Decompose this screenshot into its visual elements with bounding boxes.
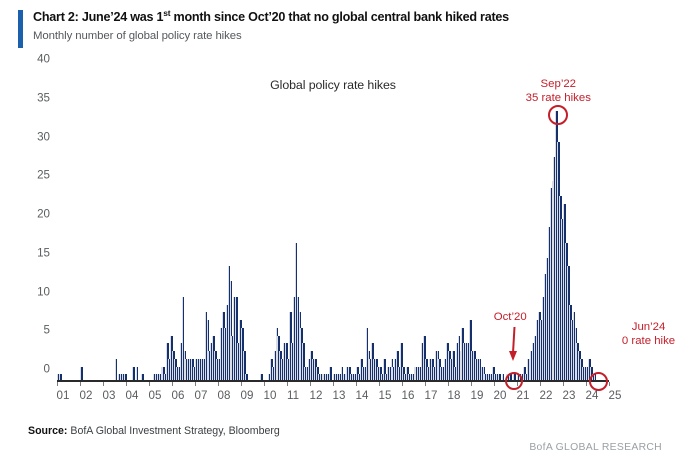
annotation-jun24-label: Jun’240 rate hike <box>622 320 675 348</box>
x-axis-tick-mark <box>287 382 288 386</box>
x-axis-tick-mark <box>586 382 587 386</box>
x-axis-tick-mark <box>425 382 426 386</box>
annotation-sep22-label: Sep’2235 rate hikes <box>526 77 591 105</box>
y-axis-tick-label: 25 <box>37 169 50 182</box>
x-axis-tick-mark <box>379 382 380 386</box>
x-axis-tick-mark <box>540 382 541 386</box>
annotation-sep22-marker <box>548 105 568 125</box>
x-axis-tick-label: 03 <box>103 389 116 402</box>
x-axis-tick-mark <box>609 382 610 386</box>
annotation-oct20-marker <box>505 372 523 390</box>
x-axis-tick-mark <box>57 382 58 386</box>
x-axis-tick-mark <box>333 382 334 386</box>
annotation-jun24-label-line: 0 rate hike <box>622 334 675 348</box>
x-axis-tick-mark <box>241 382 242 386</box>
source-note: Source: BofA Global Investment Strategy,… <box>28 425 280 437</box>
y-axis-tick-label: 20 <box>37 208 50 221</box>
annotation-oct20-arrow-icon <box>506 327 520 363</box>
x-axis-tick-label: 08 <box>218 389 231 402</box>
x-axis-tick-mark <box>103 382 104 386</box>
annotation-jun24-label-line: Jun’24 <box>622 320 675 334</box>
y-axis-tick-label: 40 <box>37 53 50 66</box>
x-axis-tick-mark <box>310 382 311 386</box>
x-axis-tick-label: 16 <box>402 389 415 402</box>
x-axis-tick-mark <box>264 382 265 386</box>
annotation-oct20-label-line: Oct’20 <box>494 310 527 324</box>
x-axis-tick-label: 12 <box>310 389 323 402</box>
x-axis-tick-label: 25 <box>609 389 622 402</box>
x-axis-tick-label: 19 <box>471 389 484 402</box>
x-axis-tick-label: 18 <box>448 389 461 402</box>
x-axis-tick-mark <box>471 382 472 386</box>
y-axis-tick-label: 0 <box>44 363 50 376</box>
x-axis-tick-mark <box>218 382 219 386</box>
x-axis-tick-mark <box>172 382 173 386</box>
x-axis-tick-label: 24 <box>586 389 599 402</box>
x-axis-tick-label: 17 <box>425 389 438 402</box>
watermark: BofA GLOBAL RESEARCH <box>529 442 662 453</box>
x-axis-tick-mark <box>126 382 127 386</box>
bar <box>115 359 118 382</box>
x-axis-tick-label: 21 <box>517 389 530 402</box>
source-label: Source: <box>28 425 67 437</box>
x-axis-tick-mark <box>494 382 495 386</box>
x-axis-tick-label: 20 <box>494 389 507 402</box>
y-axis-tick-label: 15 <box>37 246 50 259</box>
x-axis-tick-label: 07 <box>195 389 208 402</box>
x-axis-tick-label: 01 <box>57 389 70 402</box>
x-axis-tick-mark <box>195 382 196 386</box>
x-axis-tick-mark <box>80 382 81 386</box>
x-axis-tick-label: 22 <box>540 389 553 402</box>
x-axis-tick-label: 15 <box>379 389 392 402</box>
x-axis-tick-mark <box>563 382 564 386</box>
x-axis-tick-label: 13 <box>333 389 346 402</box>
chart-container: Global policy rate hikes 051015202530354… <box>0 0 680 459</box>
annotation-oct20-label: Oct’20 <box>494 310 527 324</box>
plot-area: 0510152025303540 01020304050607080910111… <box>57 72 609 382</box>
annotation-jun24-marker <box>589 372 608 391</box>
x-axis-tick-label: 10 <box>264 389 277 402</box>
x-axis-tick-mark <box>149 382 150 386</box>
x-axis-tick-label: 09 <box>241 389 254 402</box>
x-axis-tick-label: 04 <box>126 389 139 402</box>
annotation-sep22-label-line: Sep’22 <box>526 77 591 91</box>
x-axis-tick-label: 14 <box>356 389 369 402</box>
x-axis-tick-label: 23 <box>563 389 576 402</box>
source-text: BofA Global Investment Strategy, Bloombe… <box>67 425 279 437</box>
x-axis-tick-label: 05 <box>149 389 162 402</box>
x-axis-tick-label: 11 <box>287 389 299 402</box>
y-axis-tick-label: 30 <box>37 130 50 143</box>
x-axis-tick-mark <box>402 382 403 386</box>
x-axis-tick-label: 02 <box>80 389 93 402</box>
annotation-sep22-label-line: 35 rate hikes <box>526 91 591 105</box>
y-axis-tick-label: 5 <box>44 324 50 337</box>
y-axis-tick-label: 35 <box>37 91 50 104</box>
y-axis-tick-label: 10 <box>37 285 50 298</box>
bar-series <box>57 72 609 382</box>
x-axis-tick-label: 06 <box>172 389 185 402</box>
x-axis-tick-mark <box>356 382 357 386</box>
x-axis-tick-mark <box>448 382 449 386</box>
